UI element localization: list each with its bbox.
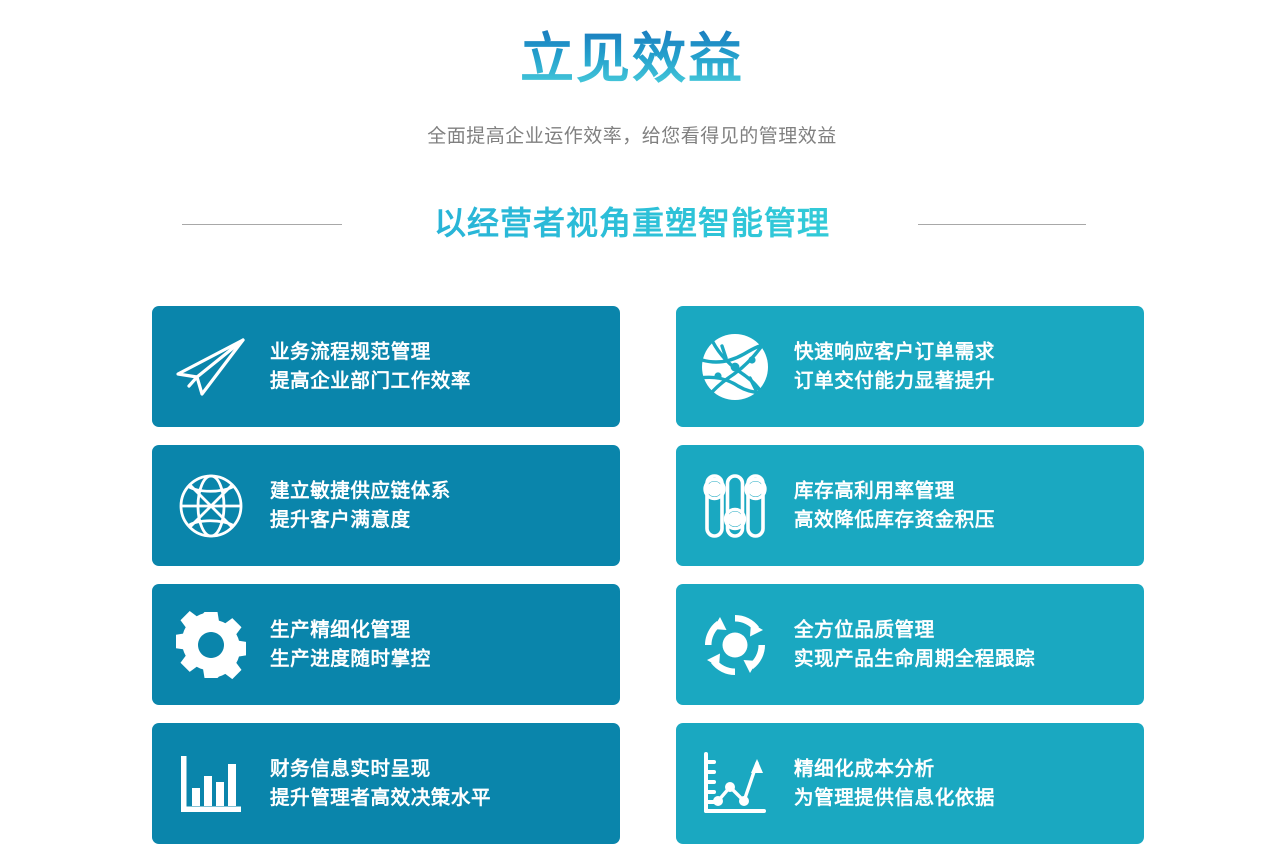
section-heading: 以经营者视角重塑智能管理 bbox=[0, 200, 1264, 246]
benefit-card-grid: 业务流程规范管理 提高企业部门工作效率 bbox=[152, 306, 1148, 844]
benefit-card[interactable]: 业务流程规范管理 提高企业部门工作效率 bbox=[152, 306, 620, 427]
benefit-line-1: 库存高利用率管理 bbox=[794, 477, 1130, 506]
bar-chart-icon bbox=[152, 723, 270, 844]
benefit-card[interactable]: 快速响应客户订单需求 订单交付能力显著提升 bbox=[676, 306, 1144, 427]
benefit-card[interactable]: 库存高利用率管理 高效降低库存资金积压 bbox=[676, 445, 1144, 566]
paper-plane-icon bbox=[152, 306, 270, 427]
benefit-card[interactable]: 生产精细化管理 生产进度随时掌控 bbox=[152, 584, 620, 705]
benefit-card[interactable]: 建立敏捷供应链体系 提升客户满意度 bbox=[152, 445, 620, 566]
gear-icon bbox=[152, 584, 270, 705]
benefit-line-2: 为管理提供信息化依据 bbox=[794, 784, 1130, 813]
benefits-page: 立见效益 全面提高企业运作效率，给您看得见的管理效益 以经营者视角重塑智能管理 … bbox=[0, 0, 1264, 859]
benefit-line-1: 精细化成本分析 bbox=[794, 755, 1130, 784]
benefit-card-text: 建立敏捷供应链体系 提升客户满意度 bbox=[270, 477, 620, 535]
cycle-arrows-icon bbox=[676, 584, 794, 705]
line-chart-icon bbox=[676, 723, 794, 844]
benefit-line-2: 提升管理者高效决策水平 bbox=[270, 784, 606, 813]
benefit-card-text: 财务信息实时呈现 提升管理者高效决策水平 bbox=[270, 755, 620, 813]
benefit-card[interactable]: 财务信息实时呈现 提升管理者高效决策水平 bbox=[152, 723, 620, 844]
benefit-card[interactable]: 全方位品质管理 实现产品生命周期全程跟踪 bbox=[676, 584, 1144, 705]
benefit-line-1: 生产精细化管理 bbox=[270, 616, 606, 645]
section-heading-group: 以经营者视角重塑智能管理 bbox=[0, 200, 1264, 248]
benefit-line-1: 全方位品质管理 bbox=[794, 616, 1130, 645]
benefit-line-2: 生产进度随时掌控 bbox=[270, 645, 606, 674]
benefit-card-text: 全方位品质管理 实现产品生命周期全程跟踪 bbox=[794, 616, 1144, 674]
globe-icon bbox=[152, 445, 270, 566]
benefit-line-2: 实现产品生命周期全程跟踪 bbox=[794, 645, 1130, 674]
benefit-line-2: 高效降低库存资金积压 bbox=[794, 506, 1130, 535]
benefit-line-1: 财务信息实时呈现 bbox=[270, 755, 606, 784]
benefit-card-text: 快速响应客户订单需求 订单交付能力显著提升 bbox=[794, 338, 1144, 396]
benefit-card[interactable]: 精细化成本分析 为管理提供信息化依据 bbox=[676, 723, 1144, 844]
benefit-card-text: 精细化成本分析 为管理提供信息化依据 bbox=[794, 755, 1144, 813]
benefit-line-1: 建立敏捷供应链体系 bbox=[270, 477, 606, 506]
page-subtitle: 全面提高企业运作效率，给您看得见的管理效益 bbox=[0, 122, 1264, 152]
benefit-line-2: 提升客户满意度 bbox=[270, 506, 606, 535]
page-title: 立见效益 bbox=[0, 26, 1264, 92]
benefit-line-1: 业务流程规范管理 bbox=[270, 338, 606, 367]
benefit-line-2: 提高企业部门工作效率 bbox=[270, 367, 606, 396]
benefit-card-text: 生产精细化管理 生产进度随时掌控 bbox=[270, 616, 620, 674]
sliders-icon bbox=[676, 445, 794, 566]
benefit-line-2: 订单交付能力显著提升 bbox=[794, 367, 1130, 396]
benefit-line-1: 快速响应客户订单需求 bbox=[794, 338, 1130, 367]
benefit-card-text: 业务流程规范管理 提高企业部门工作效率 bbox=[270, 338, 620, 396]
benefit-card-text: 库存高利用率管理 高效降低库存资金积压 bbox=[794, 477, 1144, 535]
network-globe-icon bbox=[676, 306, 794, 427]
